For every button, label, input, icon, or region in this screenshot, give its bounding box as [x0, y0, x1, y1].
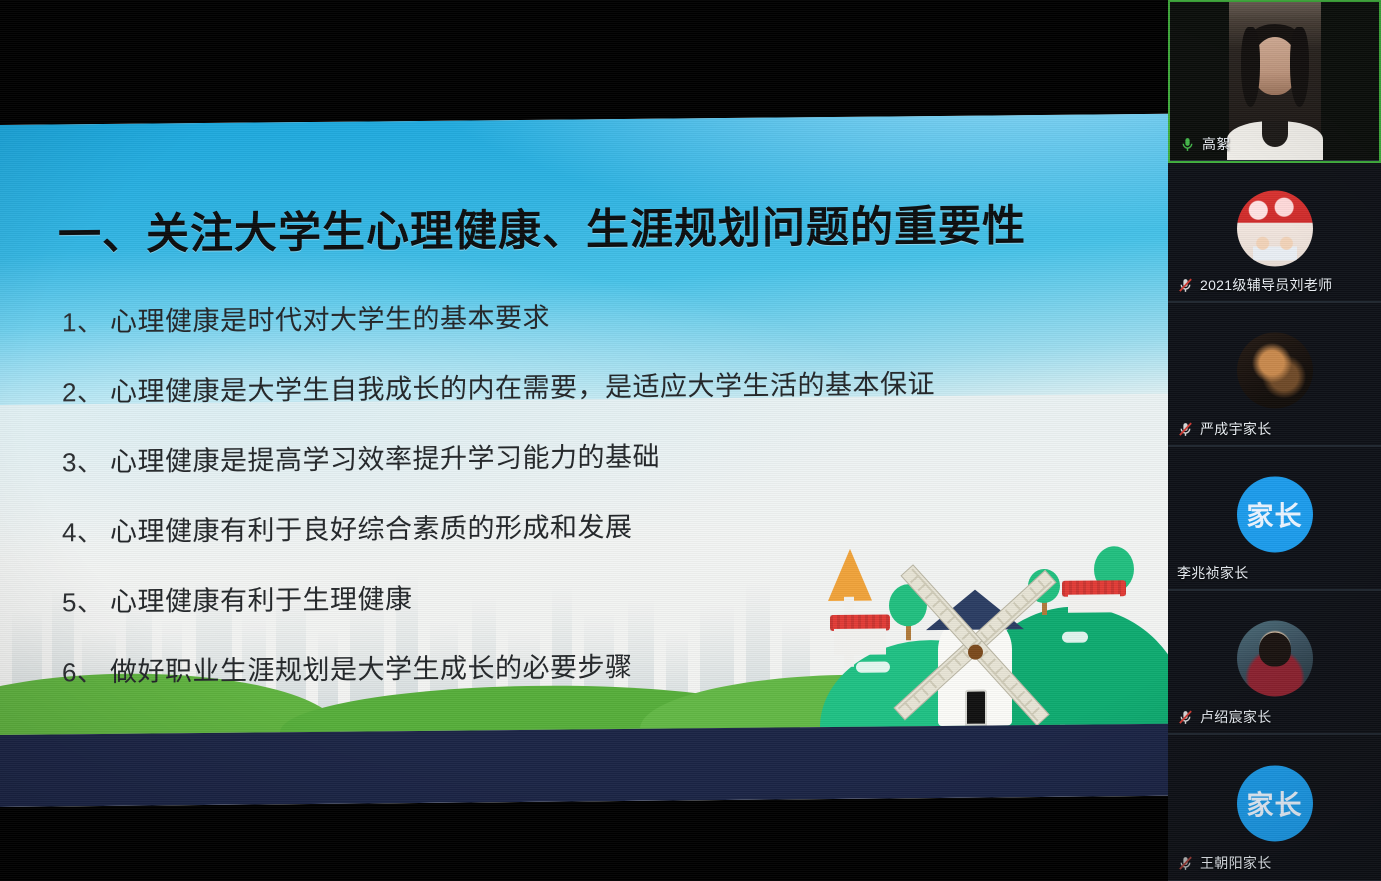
participant-filmstrip[interactable]: 高絮 2021级辅导员刘老师: [1168, 0, 1381, 881]
bullet-number: 3、: [62, 442, 110, 479]
participant-tile[interactable]: 严成宇家长: [1168, 303, 1381, 447]
participant-tile[interactable]: 家长 王朝阳家长: [1168, 735, 1381, 881]
avatar: 家长: [1237, 476, 1313, 552]
bullet-text: 心理健康是提高学习效率提升学习能力的基础: [110, 435, 660, 479]
avatar-initials: 家长: [1237, 476, 1313, 552]
slide-bullet-list: 1、 心理健康是时代对大学生的基本要求 2、 心理健康是大学生自我成长的内在需要…: [62, 290, 1132, 720]
presentation-slide: 一、关注大学生心理健康、生涯规划问题的重要性 1、 心理健康是时代对大学生的基本…: [0, 114, 1168, 807]
mic-on-icon: [1179, 136, 1196, 153]
participant-label: 王朝阳家长: [1177, 853, 1272, 873]
bullet-number: 4、: [62, 512, 110, 549]
participant-video: [1229, 2, 1321, 161]
bullet-number: 1、: [62, 302, 110, 339]
slide-bullet-item: 1、 心理健康是时代对大学生的基本要求: [62, 290, 1132, 370]
bullet-number: 6、: [62, 652, 110, 689]
participant-name: 严成宇家长: [1200, 419, 1272, 439]
mic-muted-icon: [1177, 855, 1194, 872]
participant-label: 李兆祯家长: [1177, 563, 1249, 583]
slide-bullet-item: 6、 做好职业生涯规划是大学生成长的必要步骤: [62, 640, 1132, 720]
participant-name: 李兆祯家长: [1177, 563, 1249, 583]
slide-bullet-item: 4、 心理健康有利于良好综合素质的形成和发展: [62, 500, 1132, 580]
participant-tile-active-speaker[interactable]: 高絮: [1168, 0, 1381, 163]
bullet-text: 心理健康有利于生理健康: [110, 577, 413, 619]
slide-footer-strip: [0, 724, 1168, 807]
mic-muted-icon: [1177, 421, 1194, 438]
screen-share-region[interactable]: 一、关注大学生心理健康、生涯规划问题的重要性 1、 心理健康是时代对大学生的基本…: [0, 0, 1168, 881]
meeting-screen-photo: 一、关注大学生心理健康、生涯规划问题的重要性 1、 心理健康是时代对大学生的基本…: [0, 0, 1381, 881]
participant-label: 严成宇家长: [1177, 419, 1272, 439]
participant-tile[interactable]: 卢绍宸家长: [1168, 591, 1381, 735]
slide-bullet-item: 3、 心理健康是提高学习效率提升学习能力的基础: [62, 430, 1132, 510]
participant-name: 高絮: [1202, 134, 1231, 154]
mic-muted-icon: [1177, 277, 1194, 294]
participant-tile[interactable]: 家长 李兆祯家长: [1168, 447, 1381, 591]
avatar: [1237, 332, 1313, 408]
slide-bullet-item: 5、 心理健康有利于生理健康: [62, 570, 1132, 650]
participant-label: 卢绍宸家长: [1177, 707, 1272, 727]
bullet-text: 做好职业生涯规划是大学生成长的必要步骤: [110, 645, 633, 689]
participant-name: 2021级辅导员刘老师: [1200, 275, 1332, 295]
mic-muted-icon: [1177, 709, 1194, 726]
participant-name: 王朝阳家长: [1200, 853, 1272, 873]
slide-title: 一、关注大学生心理健康、生涯规划问题的重要性: [58, 190, 1118, 262]
bullet-text: 心理健康是大学生自我成长的内在需要，是适应大学生活的基本保证: [110, 362, 935, 409]
bullet-text: 心理健康有利于良好综合素质的形成和发展: [110, 505, 633, 549]
participant-name: 卢绍宸家长: [1200, 707, 1272, 727]
avatar: 家长: [1237, 765, 1313, 841]
bullet-number: 2、: [62, 372, 110, 409]
participant-label: 2021级辅导员刘老师: [1177, 275, 1332, 295]
participant-tile[interactable]: 2021级辅导员刘老师: [1168, 163, 1381, 303]
avatar: [1237, 620, 1313, 696]
bullet-text: 心理健康是时代对大学生的基本要求: [110, 296, 550, 339]
participant-label: 高絮: [1179, 134, 1231, 154]
slide-bullet-item: 2、 心理健康是大学生自我成长的内在需要，是适应大学生活的基本保证: [62, 360, 1132, 440]
avatar-initials: 家长: [1237, 765, 1313, 841]
avatar: [1237, 190, 1313, 266]
bullet-number: 5、: [62, 582, 110, 619]
